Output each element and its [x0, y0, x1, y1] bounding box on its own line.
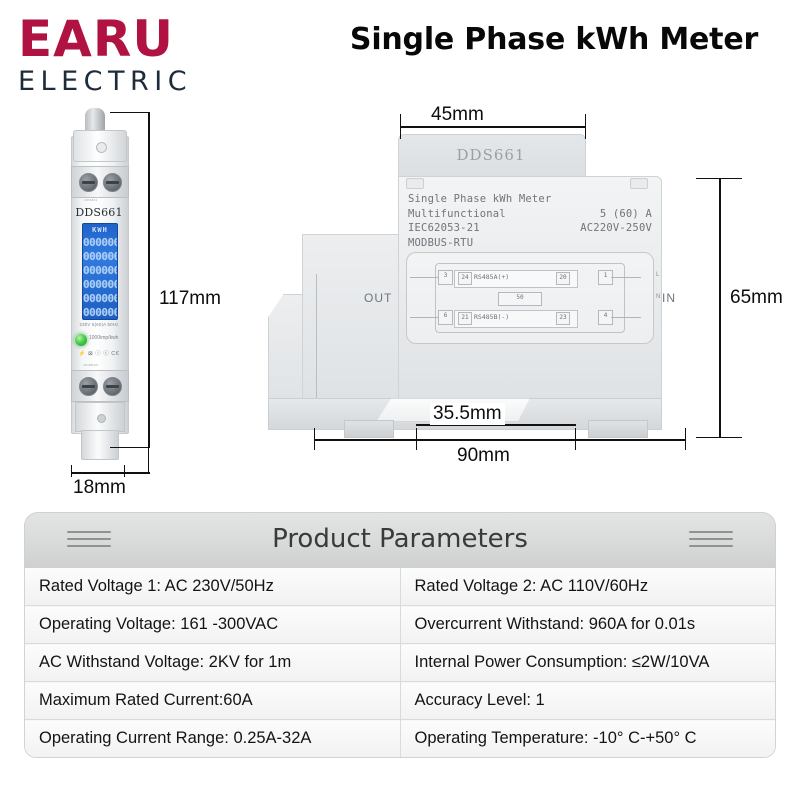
spec-line-3: IEC62053-21 AC220V-250V [408, 221, 652, 236]
wiring-diagram: 24 RS485A(+) 20 21 RS485B(-) 23 50 3 6 1… [406, 252, 654, 344]
lcd-digit-row: 000000 [83, 265, 117, 276]
parameters-header: Product Parameters [24, 512, 776, 568]
spec-line-4: MODBUS-RTU [408, 236, 652, 251]
param-cell-right: Internal Power Consumption: ≤2W/10VA [400, 644, 775, 682]
housing-microprint-bottom: MODBUS [63, 363, 119, 367]
din-rail-lip-left [344, 420, 394, 438]
page-title: Single Phase kWh Meter [326, 22, 782, 57]
spec-line-2-left: Multifunctional [408, 207, 506, 222]
spec-line-2-right: 5 (60) A [600, 207, 652, 222]
dimension-line-total-depth [314, 439, 686, 441]
terminal-number-3: 3 [438, 270, 453, 285]
dimension-tick [110, 112, 150, 113]
dimension-line-side-height [719, 178, 721, 438]
param-cell-left: AC Withstand Voltage: 2KV for 1m [25, 644, 400, 682]
dimension-label-inner-depth: 35.5mm [430, 403, 505, 425]
parameters-title: Product Parameters [25, 524, 775, 554]
meter-model-label: DDS661 [71, 206, 127, 219]
side-model-label: DDS661 [398, 146, 584, 164]
param-cell-left: Maximum Rated Current:60A [25, 682, 400, 720]
dimension-tick [110, 447, 150, 448]
label-line-n: N [656, 286, 660, 308]
rs485a-label: RS485A(+) [474, 273, 509, 281]
terminal-number-20: 20 [556, 272, 570, 285]
dimension-line-height [148, 112, 150, 448]
dimension-label-top-width: 45mm [428, 104, 487, 126]
terminal-in-label: IN [662, 291, 676, 305]
lower-vent-icon [97, 414, 106, 423]
pulse-led-icon [74, 333, 88, 347]
meter-din-foot [81, 430, 119, 460]
param-cell-right: Operating Temperature: -10° C-+50° C [400, 720, 775, 758]
line-neutral-labels: L N [656, 264, 660, 308]
terminal-block-top [71, 166, 129, 198]
parameters-table: Rated Voltage 1: AC 230V/50Hz Rated Volt… [25, 568, 775, 757]
label-line-l: L [656, 264, 660, 286]
param-cell-left: Operating Current Range: 0.25A-32A [25, 720, 400, 758]
table-row: Maximum Rated Current:60A Accuracy Level… [25, 682, 775, 720]
param-cell-right: Accuracy Level: 1 [400, 682, 775, 720]
spec-panel-text: Single Phase kWh Meter Multifunctional 5… [408, 192, 652, 250]
wire-in-top [611, 277, 641, 278]
dimension-line-width [71, 472, 125, 474]
dimension-tick [400, 114, 401, 139]
rs485b-label: RS485B(-) [474, 313, 509, 321]
product-figures: DDS661 DDS661 KWH 000000 000000 000000 0… [0, 104, 800, 510]
certification-marks: ⚡ ⊠ ⓘ ⓒ C€ [71, 349, 127, 357]
lcd-unit-label: KWH [83, 226, 117, 234]
dimension-tick [696, 178, 742, 179]
dimension-extension [124, 472, 150, 474]
parameters-table-wrapper: Rated Voltage 1: AC 230V/50Hz Rated Volt… [24, 568, 776, 758]
wire-out-bottom [410, 317, 438, 318]
panel-screw-icon [630, 178, 648, 189]
page-header: EARU ELECTRIC Single Phase kWh Meter [0, 0, 800, 108]
param-cell-left: Operating Voltage: 161 -300VAC [25, 606, 400, 644]
dimension-label-width: 18mm [70, 477, 129, 499]
dimension-tick [696, 437, 742, 438]
spec-line-2: Multifunctional 5 (60) A [408, 207, 652, 222]
terminal-out-label: OUT [364, 291, 392, 305]
table-row: AC Withstand Voltage: 2KV for 1m Interna… [25, 644, 775, 682]
panel-screw-icon [406, 178, 424, 189]
logo-wordmark: EARU [18, 14, 234, 64]
param-cell-right: Overcurrent Withstand: 960A for 0.01s [400, 606, 775, 644]
param-cell-left: Rated Voltage 1: AC 230V/50Hz [25, 568, 400, 606]
param-cell-right: Rated Voltage 2: AC 110V/60Hz [400, 568, 775, 606]
housing-microprint-top: DDS661 [63, 198, 119, 202]
spec-line-1: Single Phase kWh Meter [408, 192, 652, 207]
wire-out-top [410, 277, 438, 278]
meter-rating-print: 230V 5(60)A 50Hz [71, 322, 127, 327]
terminal-screw-icon [79, 377, 98, 396]
meter-front-view: DDS661 DDS661 KWH 000000 000000 000000 0… [63, 108, 135, 461]
spec-line-3-right: AC220V-250V [580, 221, 652, 236]
terminal-number-6: 6 [438, 310, 453, 325]
dimension-tick [314, 428, 315, 450]
lcd-digit-row: 000000 [83, 293, 117, 304]
logo-tagline: ELECTRIC [18, 68, 234, 95]
dimension-extension [148, 434, 149, 474]
dimension-tick [585, 114, 586, 139]
terminal-number-24: 24 [458, 272, 472, 285]
terminal-number-23: 23 [556, 312, 570, 325]
spec-line-3-left: IEC62053-21 [408, 221, 480, 236]
cap-screw-icon [96, 142, 107, 153]
dimension-label-height: 117mm [156, 288, 224, 310]
dimension-tick [685, 428, 686, 450]
meter-top-cap [73, 130, 127, 162]
table-row: Operating Voltage: 161 -300VAC Overcurre… [25, 606, 775, 644]
dimension-label-total-depth: 90mm [454, 445, 513, 467]
lcd-digit-row: 000000 [83, 251, 117, 262]
lcd-digit-row: 000000 [83, 307, 117, 318]
wire-in-bottom [611, 317, 641, 318]
table-row: Operating Current Range: 0.25A-32A Opera… [25, 720, 775, 758]
terminal-block-bottom [71, 370, 129, 402]
housing-shoulder-profile [302, 234, 403, 400]
terminal-screw-icon [103, 377, 122, 396]
housing-seam-line [316, 274, 317, 404]
wiring-diagram-frame: 24 RS485A(+) 20 21 RS485B(-) 23 50 3 6 1… [435, 263, 625, 333]
lcd-digit-row: 000000 [83, 279, 117, 290]
pulse-rate-label: 1000imp/kwh [89, 335, 118, 341]
hamburger-lines-right-icon [689, 531, 733, 551]
brand-logo: EARU ELECTRIC [18, 14, 234, 95]
terminal-screw-icon [79, 173, 98, 192]
din-rail-lip-right [588, 420, 648, 438]
pulse-indicator-row: 1000imp/kwh [74, 332, 126, 346]
terminal-number-21: 21 [458, 312, 472, 325]
table-row: Rated Voltage 1: AC 230V/50Hz Rated Volt… [25, 568, 775, 606]
lcd-digit-row: 000000 [83, 237, 117, 248]
dimension-line-top-width [400, 126, 586, 128]
center-rating-box: 50 [498, 292, 542, 306]
dimension-label-side-height: 65mm [727, 287, 786, 309]
product-parameters-section: Product Parameters Rated Voltage 1: AC 2… [24, 512, 776, 788]
terminal-screw-icon [103, 173, 122, 192]
meter-lower-body [75, 402, 125, 432]
lcd-display: KWH 000000 000000 000000 000000 000000 0… [82, 223, 118, 320]
